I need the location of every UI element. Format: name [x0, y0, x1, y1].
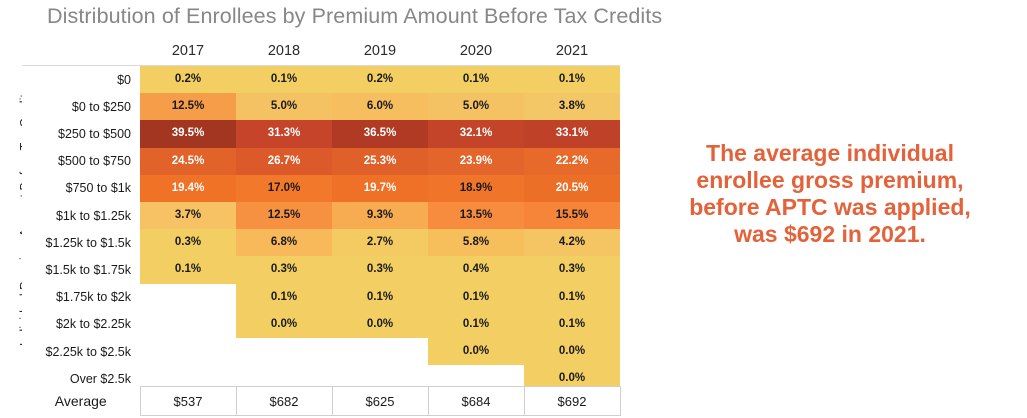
row-label: $0 to $250: [22, 93, 140, 120]
heatmap-cell: 0.1%: [428, 66, 524, 94]
heatmap-row: $0 to $25012.5%5.0%6.0%5.0%3.8%: [22, 93, 620, 120]
column-header-2019: 2019: [332, 40, 428, 66]
page-title: Distribution of Enrollees by Premium Amo…: [47, 4, 662, 29]
heatmap-cell: [140, 311, 236, 338]
column-header-2018: 2018: [236, 40, 332, 66]
heatmap-cell: 9.3%: [332, 202, 428, 229]
heatmap-row: $1.25k to $1.5k0.3%6.8%2.7%5.8%4.2%: [22, 229, 620, 256]
heatmap-cell: 0.2%: [332, 66, 428, 94]
row-label: $1.5k to $1.75k: [22, 256, 140, 283]
heatmap-cell: 39.5%: [140, 120, 236, 147]
heatmap-table: 20172018201920202021 $00.2%0.1%0.2%0.1%0…: [22, 40, 620, 393]
heatmap-cell: 18.9%: [428, 175, 524, 202]
heatmap-cell: 19.4%: [140, 175, 236, 202]
row-label: $250 to $500: [22, 120, 140, 147]
heatmap-cell: 31.3%: [236, 120, 332, 147]
heatmap-cell: 0.1%: [140, 256, 236, 283]
heatmap-cell: 0.1%: [524, 284, 620, 311]
row-label: $2k to $2.25k: [22, 311, 140, 338]
heatmap-cell: 0.0%: [332, 311, 428, 338]
heatmap-container: 20172018201920202021 $00.2%0.1%0.2%0.1%0…: [22, 40, 622, 393]
heatmap-cell: 0.1%: [236, 66, 332, 94]
row-label: $0: [22, 66, 140, 94]
heatmap-cell: 20.5%: [524, 175, 620, 202]
heatmap-row: $1.5k to $1.75k0.1%0.3%0.3%0.4%0.3%: [22, 256, 620, 283]
row-label: $1.25k to $1.5k: [22, 229, 140, 256]
row-label: $750 to $1k: [22, 175, 140, 202]
row-label: $500 to $750: [22, 148, 140, 175]
heatmap-cell: [332, 338, 428, 365]
heatmap-cell: 32.1%: [428, 120, 524, 147]
heatmap-cell: 0.1%: [524, 311, 620, 338]
average-label: Average: [22, 387, 140, 416]
heatmap-header-row: 20172018201920202021: [22, 40, 620, 66]
average-value-cell: $684: [428, 387, 524, 416]
heatmap-corner-cell: [22, 40, 140, 66]
heatmap-row: $1k to $1.25k3.7%12.5%9.3%13.5%15.5%: [22, 202, 620, 229]
heatmap-cell: 0.2%: [140, 66, 236, 94]
heatmap-cell: 6.0%: [332, 93, 428, 120]
heatmap-row: $500 to $75024.5%26.7%25.3%23.9%22.2%: [22, 148, 620, 175]
heatmap-cell: 3.7%: [140, 202, 236, 229]
heatmap-cell: 0.1%: [236, 284, 332, 311]
heatmap-cell: 0.3%: [524, 256, 620, 283]
heatmap-cell: 0.3%: [236, 256, 332, 283]
heatmap-cell: 22.2%: [524, 148, 620, 175]
heatmap-cell: [236, 338, 332, 365]
heatmap-cell: 0.3%: [332, 256, 428, 283]
heatmap-cell: 12.5%: [140, 93, 236, 120]
heatmap-cell: 0.0%: [236, 311, 332, 338]
callout-line: before APTC was applied,: [655, 194, 1005, 221]
row-label: $1k to $1.25k: [22, 202, 140, 229]
heatmap-cell: [140, 338, 236, 365]
heatmap-cell: 0.1%: [428, 284, 524, 311]
callout-line: The average individual: [655, 140, 1005, 167]
callout-text: The average individualenrollee gross pre…: [655, 140, 1005, 248]
heatmap-row: $250 to $50039.5%31.3%36.5%32.1%33.1%: [22, 120, 620, 147]
heatmap-cell: 5.8%: [428, 229, 524, 256]
row-label: $2.25k to $2.5k: [22, 338, 140, 365]
heatmap-row: $2k to $2.25k0.0%0.0%0.1%0.1%: [22, 311, 620, 338]
heatmap-cell: 19.7%: [332, 175, 428, 202]
heatmap-cell: 36.5%: [332, 120, 428, 147]
heatmap-cell: 6.8%: [236, 229, 332, 256]
heatmap-cell: 13.5%: [428, 202, 524, 229]
heatmap-cell: 12.5%: [236, 202, 332, 229]
column-header-2017: 2017: [140, 40, 236, 66]
heatmap-cell: 25.3%: [332, 148, 428, 175]
heatmap-cell: 0.1%: [428, 311, 524, 338]
row-label: $1.75k to $2k: [22, 284, 140, 311]
average-table: Average $537$682$625$684$692: [22, 386, 621, 416]
average-value-cell: $682: [236, 387, 332, 416]
heatmap-body: $00.2%0.1%0.2%0.1%0.1%$0 to $25012.5%5.0…: [22, 66, 620, 393]
heatmap-row: $00.2%0.1%0.2%0.1%0.1%: [22, 66, 620, 94]
heatmap-cell: 2.7%: [332, 229, 428, 256]
heatmap-cell: 5.0%: [428, 93, 524, 120]
heatmap-cell: 3.8%: [524, 93, 620, 120]
callout-line: enrollee gross premium,: [655, 167, 1005, 194]
average-row-container: Average $537$682$625$684$692: [22, 386, 622, 416]
average-value-cell: $692: [524, 387, 620, 416]
heatmap-cell: 4.2%: [524, 229, 620, 256]
column-header-2020: 2020: [428, 40, 524, 66]
heatmap-row: $2.25k to $2.5k0.0%0.0%: [22, 338, 620, 365]
heatmap-cell: 0.1%: [524, 66, 620, 94]
average-value-cell: $625: [332, 387, 428, 416]
heatmap-cell: 0.0%: [428, 338, 524, 365]
heatmap-row: $750 to $1k19.4%17.0%19.7%18.9%20.5%: [22, 175, 620, 202]
heatmap-cell: 0.4%: [428, 256, 524, 283]
average-value-cell: $537: [140, 387, 236, 416]
average-body: Average $537$682$625$684$692: [22, 387, 620, 416]
heatmap-cell: 26.7%: [236, 148, 332, 175]
heatmap-row: $1.75k to $2k0.1%0.1%0.1%0.1%: [22, 284, 620, 311]
heatmap-cell: 5.0%: [236, 93, 332, 120]
heatmap-cell: 15.5%: [524, 202, 620, 229]
heatmap-cell: 0.0%: [524, 338, 620, 365]
heatmap-cell: 23.9%: [428, 148, 524, 175]
heatmap-cell: 0.1%: [332, 284, 428, 311]
heatmap-cell: 0.3%: [140, 229, 236, 256]
column-header-2021: 2021: [524, 40, 620, 66]
heatmap-cell: 17.0%: [236, 175, 332, 202]
callout-line: was $692 in 2021.: [655, 221, 1005, 248]
heatmap-cell: 24.5%: [140, 148, 236, 175]
average-row: Average $537$682$625$684$692: [22, 387, 620, 416]
heatmap-head: 20172018201920202021: [22, 40, 620, 66]
heatmap-cell: [140, 284, 236, 311]
heatmap-cell: 33.1%: [524, 120, 620, 147]
